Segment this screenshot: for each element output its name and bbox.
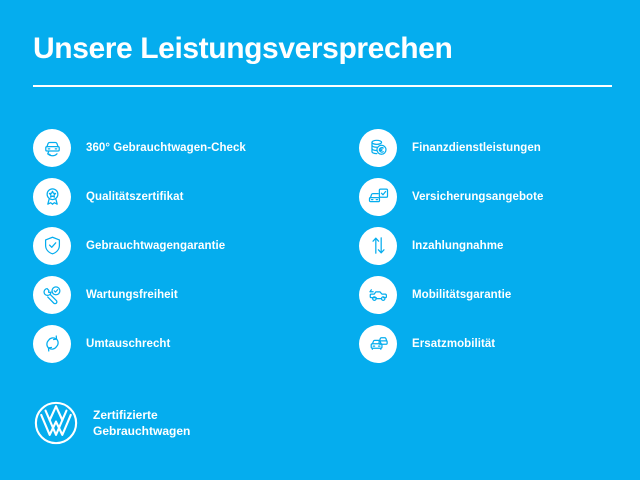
benefit-label: Wartungsfreiheit (86, 288, 178, 302)
benefits-right-column: Finanzdienstleistungen Versicherungsange… (359, 123, 612, 368)
benefits-grid: 360° Gebrauchtwagen-Check Qualitätszerti… (33, 123, 612, 368)
promise-panel: Unsere Leistungsversprechen 360° Gebrauc… (0, 0, 640, 480)
benefit-label: Mobilitätsgarantie (412, 288, 511, 302)
benefit-item-ersatzmobilitaet[interactable]: Ersatzmobilität (359, 319, 612, 368)
footer-lockup: Zertifizierte Gebrauchtwagen (33, 400, 190, 446)
benefit-item-mobilitaetsgarantie[interactable]: Mobilitätsgarantie (359, 270, 612, 319)
benefit-label: Finanzdienstleistungen (412, 141, 541, 155)
benefit-item-versicherungsangebote[interactable]: Versicherungsangebote (359, 172, 612, 221)
wrench-check-icon (33, 276, 71, 314)
title-divider (33, 85, 612, 87)
footer-line-2: Gebrauchtwagen (93, 423, 190, 439)
shield-check-icon (33, 227, 71, 265)
benefit-item-360-check[interactable]: 360° Gebrauchtwagen-Check (33, 123, 359, 172)
benefit-item-wartungsfreiheit[interactable]: Wartungsfreiheit (33, 270, 359, 319)
benefit-item-gebrauchtwagengarantie[interactable]: Gebrauchtwagengarantie (33, 221, 359, 270)
benefit-label: Inzahlungnahme (412, 239, 503, 253)
footer-line-1: Zertifizierte (93, 407, 190, 423)
footer-text-block: Zertifizierte Gebrauchtwagen (93, 407, 190, 439)
benefit-label: Qualitätszertifikat (86, 190, 183, 204)
car-front-360-check-icon (33, 129, 71, 167)
benefit-label: Umtauschrecht (86, 337, 170, 351)
benefit-label: Ersatzmobilität (412, 337, 495, 351)
volkswagen-roundel-logo (33, 400, 79, 446)
page-title: Unsere Leistungsversprechen (33, 30, 452, 68)
benefit-item-qualitaetszertifikat[interactable]: Qualitätszertifikat (33, 172, 359, 221)
car-clipboard-check-icon (359, 178, 397, 216)
tow-truck-icon (359, 276, 397, 314)
award-rosette-icon (33, 178, 71, 216)
benefit-label: Versicherungsangebote (412, 190, 543, 204)
exchange-arrows-icon (33, 325, 71, 363)
benefit-item-umtauschrecht[interactable]: Umtauschrecht (33, 319, 359, 368)
benefit-item-inzahlungnahme[interactable]: Inzahlungnahme (359, 221, 612, 270)
arrows-up-down-icon (359, 227, 397, 265)
benefit-label: Gebrauchtwagengarantie (86, 239, 225, 253)
benefit-item-finanzdienstleistungen[interactable]: Finanzdienstleistungen (359, 123, 612, 172)
benefit-label: 360° Gebrauchtwagen-Check (86, 141, 246, 155)
two-cars-icon (359, 325, 397, 363)
benefits-left-column: 360° Gebrauchtwagen-Check Qualitätszerti… (33, 123, 359, 368)
coins-euro-icon (359, 129, 397, 167)
